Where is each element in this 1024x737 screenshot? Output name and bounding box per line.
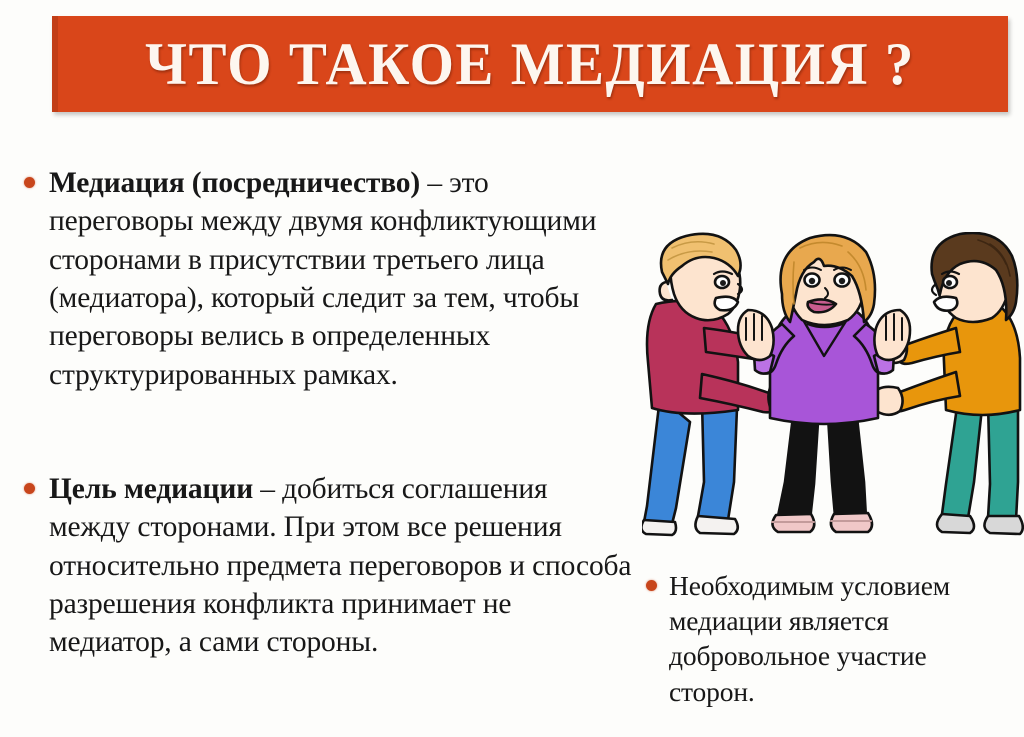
bullet-goal-text: Цель медиации – добиться соглашения межд…: [49, 470, 634, 662]
bullet-dot-icon: [24, 177, 35, 188]
bullet-goal-lead: Цель медиации: [49, 473, 253, 505]
bullet-definition-lead: Медиация (посредничество): [49, 167, 420, 199]
bullet-definition-text: Медиация (посредничество) – это перегово…: [49, 164, 624, 394]
bullet-definition: Медиация (посредничество) – это перегово…: [24, 164, 624, 394]
bullet-dot-icon: [24, 483, 35, 494]
bullet-dot-icon: [646, 580, 657, 591]
page-title: ЧТО ТАКОЕ МЕДИАЦИЯ ?: [145, 34, 915, 94]
slide-root: ЧТО ТАКОЕ МЕДИАЦИЯ ? Медиация (посреднич…: [0, 0, 1024, 737]
right-child-arguing: [871, 233, 1022, 534]
title-banner: ЧТО ТАКОЕ МЕДИАЦИЯ ?: [52, 16, 1008, 112]
bullet-definition-rest: – это переговоры между двумя конфликтующ…: [49, 167, 596, 391]
bullet-condition-text: Необходимым условием медиации является д…: [669, 568, 1006, 709]
three-children-mediation-illustration: [642, 232, 1024, 554]
center-girl-mediator: [738, 235, 910, 532]
bullet-condition: Необходимым условием медиации является д…: [646, 568, 1006, 709]
illustration-svg: [642, 232, 1024, 554]
bullet-goal: Цель медиации – добиться соглашения межд…: [24, 470, 634, 662]
